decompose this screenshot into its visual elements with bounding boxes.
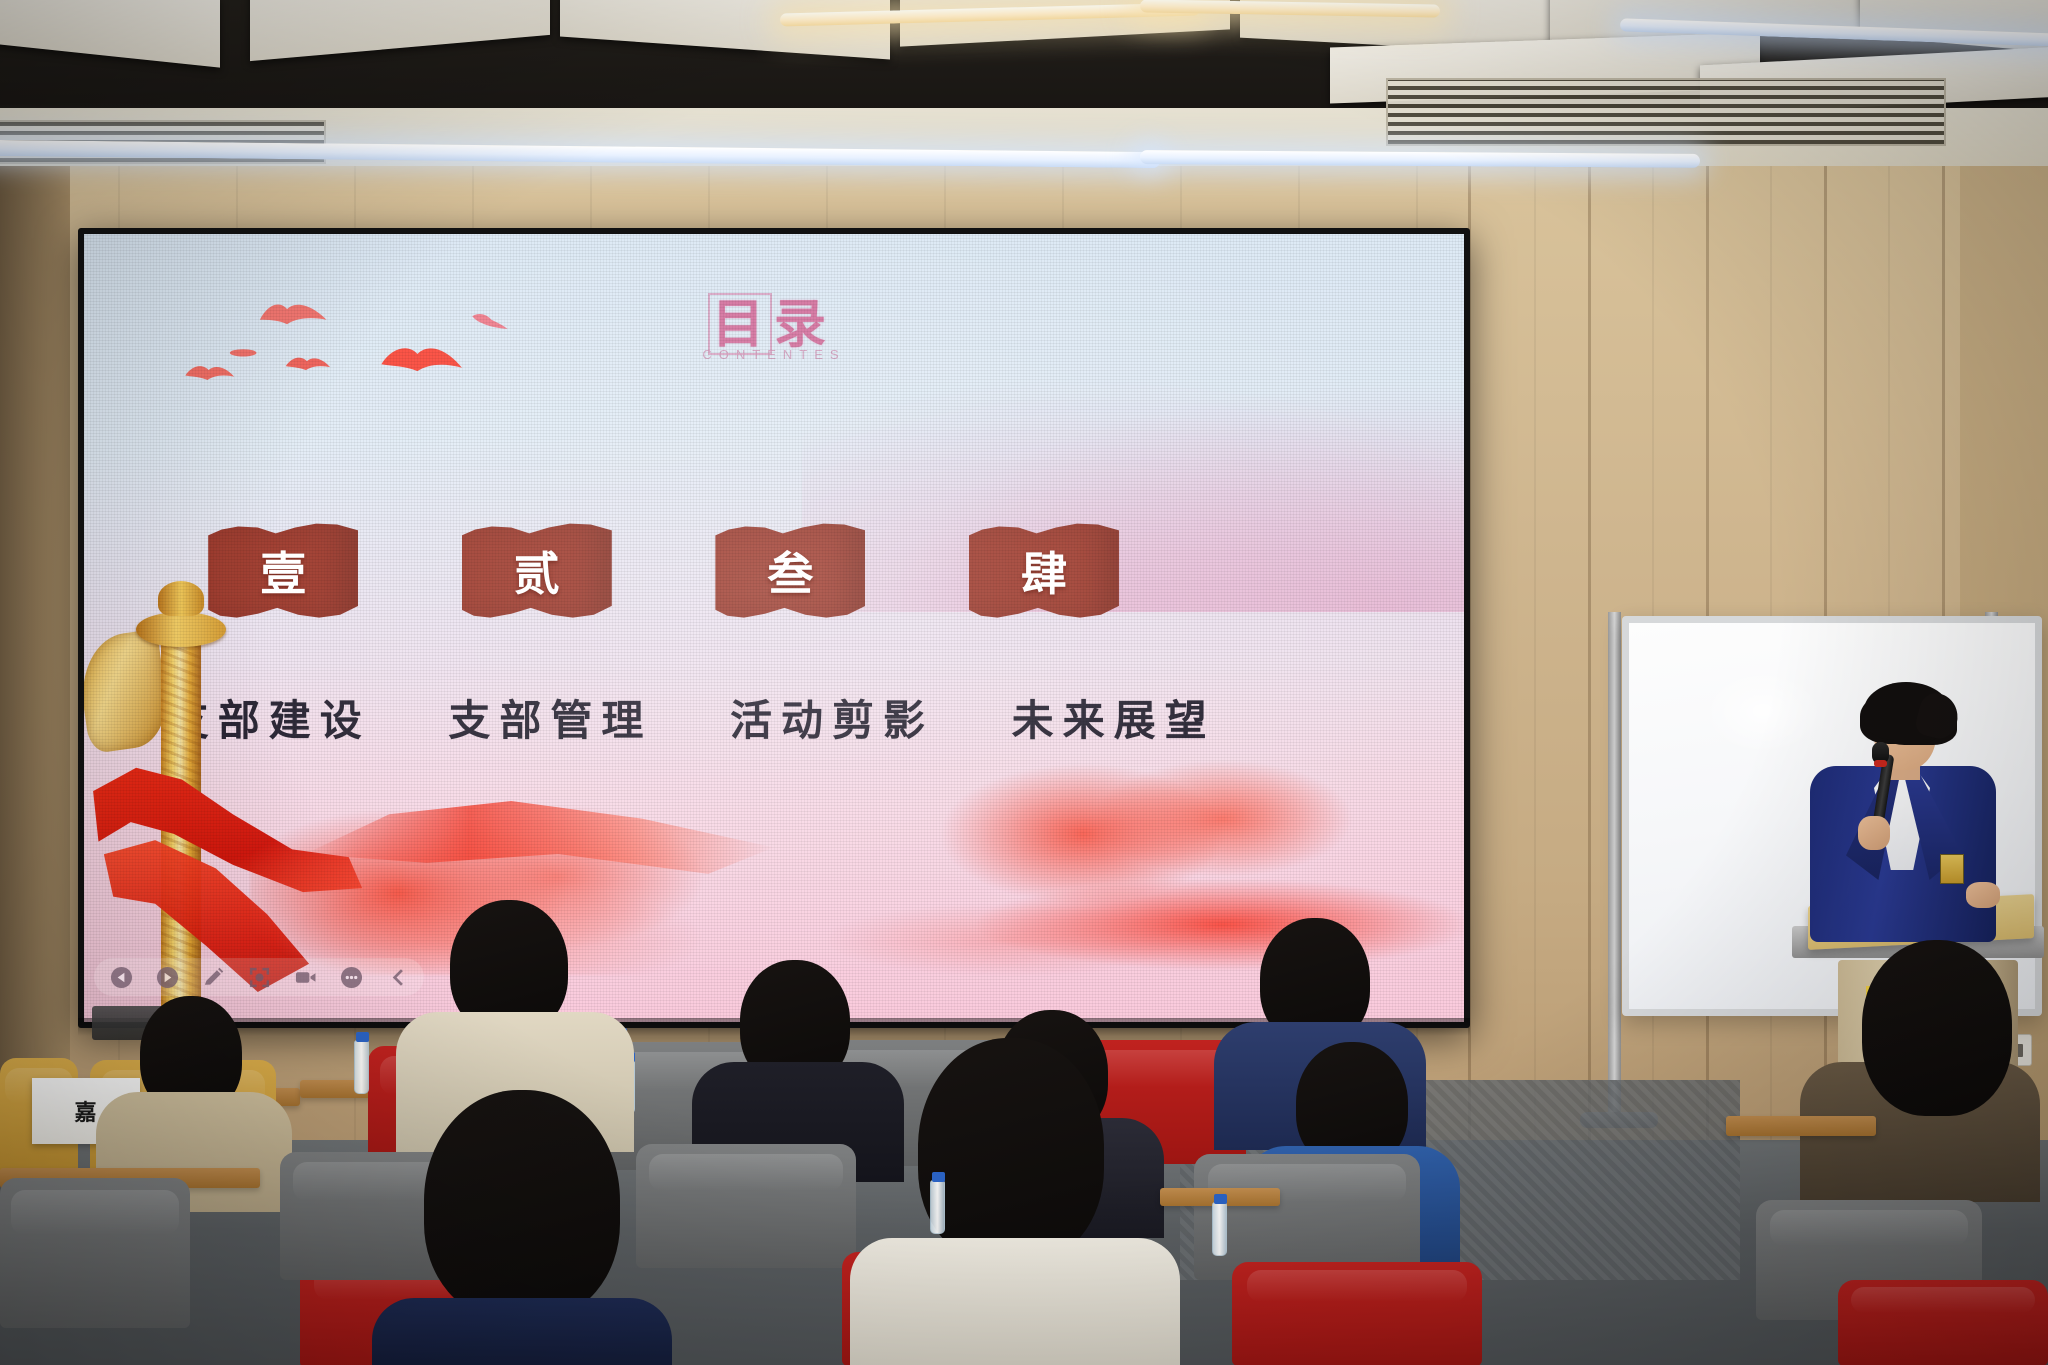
wall-seam — [1588, 150, 1591, 1160]
wall-left-edge — [0, 150, 70, 1160]
slide-canvas: 目录 CONTENTES 壹 贰 叁 — [84, 234, 1464, 1022]
banner-item: 叁 — [715, 522, 865, 620]
chevron-left-icon — [386, 966, 409, 989]
placard-text: 嘉 — [74, 1095, 97, 1127]
slide-title-block: 目录 CONTENTES — [702, 297, 846, 362]
led-wall-screen[interactable]: 目录 CONTENTES 壹 贰 叁 — [78, 228, 1470, 1028]
previous-slide-button[interactable] — [108, 964, 134, 990]
video-camera-icon — [294, 966, 317, 989]
dove-icon — [281, 352, 335, 377]
whiteboard-stand-left — [1608, 612, 1621, 1124]
birds-decoration — [181, 289, 540, 415]
hvac-vent-icon — [1386, 78, 1946, 146]
agenda-item-2: 支部管理 — [448, 687, 652, 748]
spotlight-focus-button[interactable] — [246, 964, 272, 990]
seat — [636, 1144, 856, 1268]
water-bottle — [354, 1040, 369, 1094]
huabiao-disc — [136, 612, 226, 647]
dove-icon — [367, 342, 475, 385]
huabiao-column — [90, 581, 269, 1022]
agenda-row: 支部建设 支部管理 活动剪影 未来展望 — [167, 687, 1216, 748]
ellipsis-circle-icon — [340, 966, 363, 989]
water-bottle — [1212, 1202, 1227, 1256]
title-accent-box — [708, 293, 772, 355]
dove-icon — [181, 360, 238, 388]
next-circle-icon — [156, 966, 179, 989]
banner-row: 壹 贰 叁 肆 — [208, 522, 1119, 620]
ceiling — [0, 0, 2048, 165]
banner-numeral: 壹 — [260, 538, 306, 604]
presentation-toolbar[interactable] — [94, 958, 424, 996]
record-video-button[interactable] — [292, 964, 318, 990]
banner-item: 肆 — [969, 522, 1119, 620]
blazer-crest-icon — [1940, 854, 1964, 884]
banner-item: 贰 — [462, 522, 612, 620]
dove-icon — [468, 307, 511, 335]
agenda-item-3: 活动剪影 — [730, 687, 934, 748]
water-bottle — [930, 1180, 945, 1234]
annotate-pen-button[interactable] — [200, 964, 226, 990]
banner-numeral: 叁 — [767, 538, 813, 604]
collapse-toolbar-button[interactable] — [384, 964, 410, 990]
lecture-hall-room: 目录 CONTENTES 壹 贰 叁 — [0, 0, 2048, 1365]
banner-numeral: 贰 — [514, 538, 560, 604]
seat — [1838, 1280, 2048, 1365]
screenshot-root: 目录 CONTENTES 壹 贰 叁 — [0, 0, 2048, 1365]
pencil-icon — [202, 966, 225, 989]
banner-numeral: 肆 — [1021, 538, 1067, 604]
speaker-person — [1790, 670, 2020, 940]
desk — [1726, 1116, 1876, 1136]
seat — [1232, 1262, 1482, 1365]
focus-brackets-icon — [248, 966, 271, 989]
more-options-button[interactable] — [338, 964, 364, 990]
huabiao-crown — [158, 581, 205, 616]
seat — [0, 1178, 190, 1328]
huabiao-cloud-wing — [84, 628, 172, 753]
slide-subtitle: CONTENTES — [702, 347, 846, 362]
prev-circle-icon — [110, 966, 133, 989]
agenda-item-4: 未来展望 — [1012, 687, 1216, 748]
next-slide-button[interactable] — [154, 964, 180, 990]
dove-icon — [245, 297, 338, 335]
dove-icon — [227, 345, 259, 360]
